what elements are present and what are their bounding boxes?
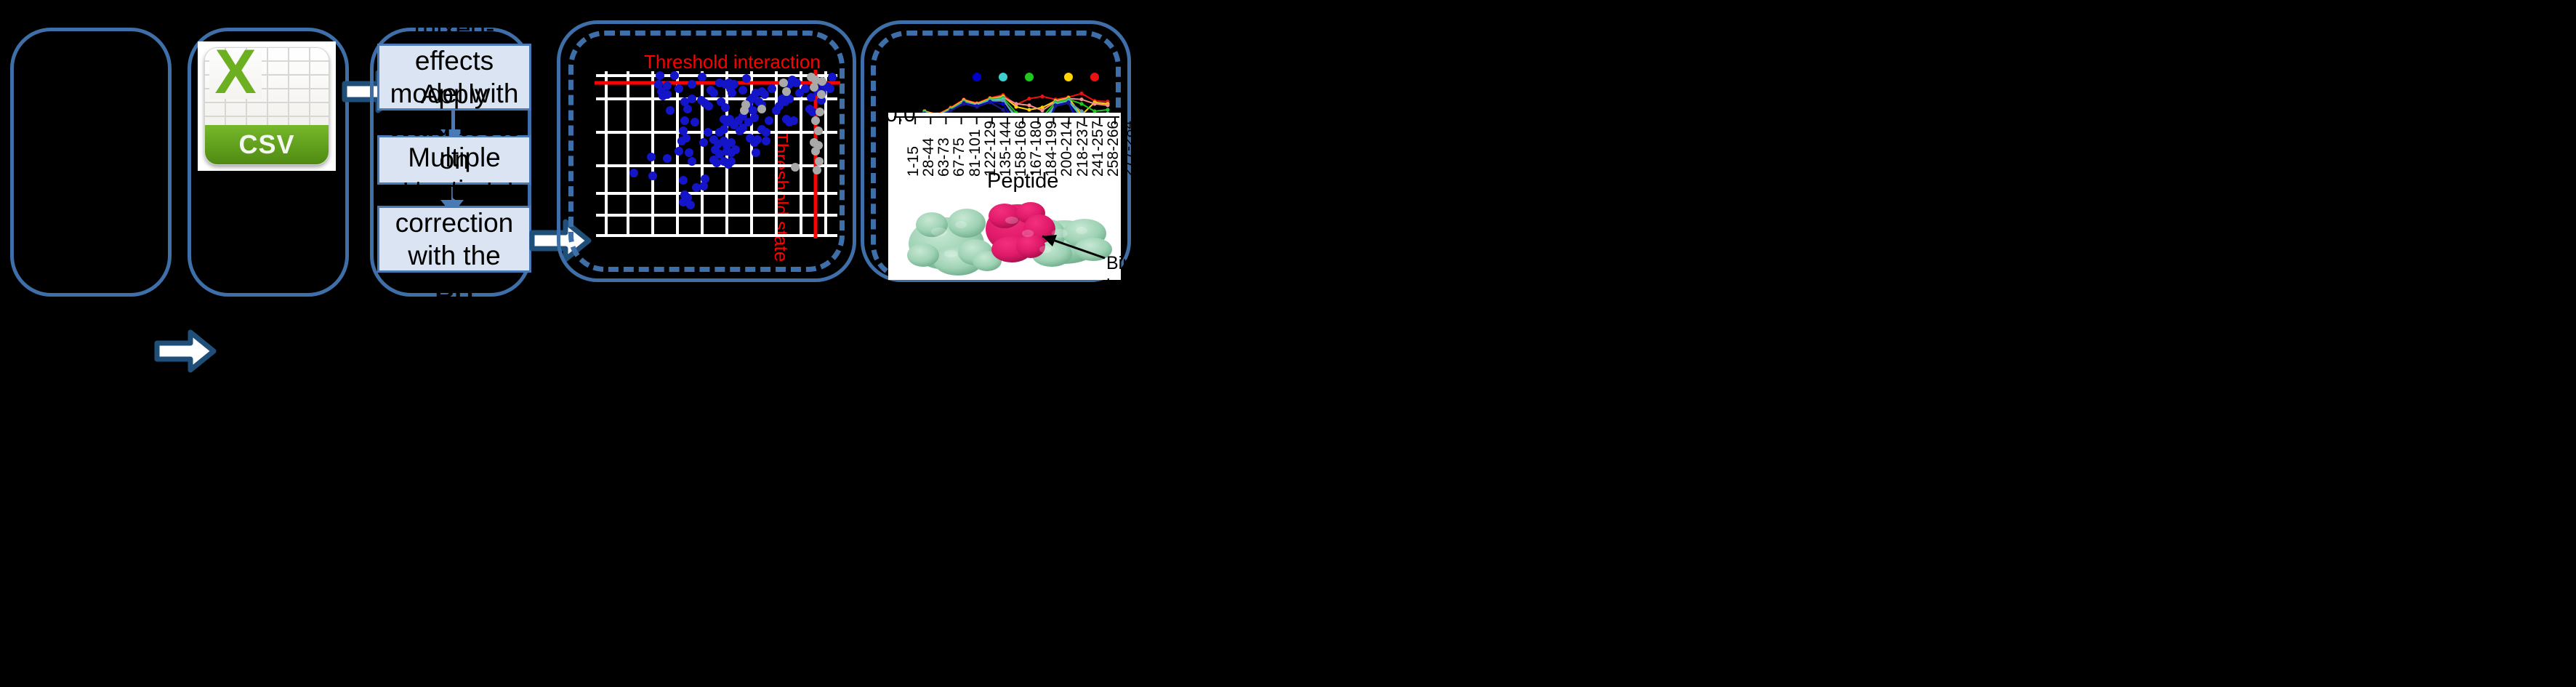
peptide-tick-label: 218-237: [1074, 121, 1092, 177]
peptide-axis-title: Peptide: [987, 169, 1058, 193]
binding-interface-line-1: Binding: [1106, 252, 1176, 275]
mt-line-3-post: procedure: [394, 306, 515, 336]
peptide-axis-card: 0.0 1-1528-4463-7367-7581-101122-129135-…: [888, 113, 1121, 280]
empty-input-panel: [10, 28, 172, 297]
excel-x-icon: X: [209, 49, 262, 99]
csv-band: CSV: [205, 125, 329, 164]
peptide-tick-label: 200-214: [1058, 121, 1076, 177]
csv-label: CSV: [238, 129, 294, 160]
peptide-tick-label: 277-284: [1120, 121, 1138, 177]
peptide-marker-dots: [900, 70, 1112, 84]
arrow-input-to-csv: [154, 329, 217, 374]
wald-line-1-pre: Apply: [421, 79, 488, 109]
mt-line-2: correction: [387, 206, 522, 239]
fit-model-line-1: Fit a linear mixed-: [387, 0, 522, 44]
peptide-tick-label: 67-75: [951, 137, 968, 177]
mt-line-1: Multiple testing: [387, 141, 522, 206]
mt-line-3-pre: with the: [408, 241, 501, 270]
protein-structure-image: [888, 191, 1121, 286]
scatter-plot-svg: [581, 41, 843, 259]
flowchart-canvas: X CSV Fit a linear mixed- effects model …: [0, 0, 2576, 687]
y-axis-tick-0: 0.0: [885, 103, 916, 127]
bh-keyword: BH: [435, 273, 473, 303]
peptide-marker-dots-svg: [900, 70, 1112, 84]
binding-interface-label: Binding interface: [1106, 252, 1176, 297]
process-box-multiple-testing[interactable]: Multiple testing correction with the BH …: [377, 206, 531, 273]
mt-line-3: with the BH procedure: [387, 239, 522, 337]
csv-file-icon: X CSV: [198, 41, 336, 171]
wald-keyword: Wald tests: [387, 112, 521, 142]
binding-interface-line-2: interface: [1106, 275, 1176, 297]
scatter-plot: Threshold interaction Threshold state: [581, 41, 843, 259]
peptide-tick-label: 81-101: [967, 129, 984, 177]
